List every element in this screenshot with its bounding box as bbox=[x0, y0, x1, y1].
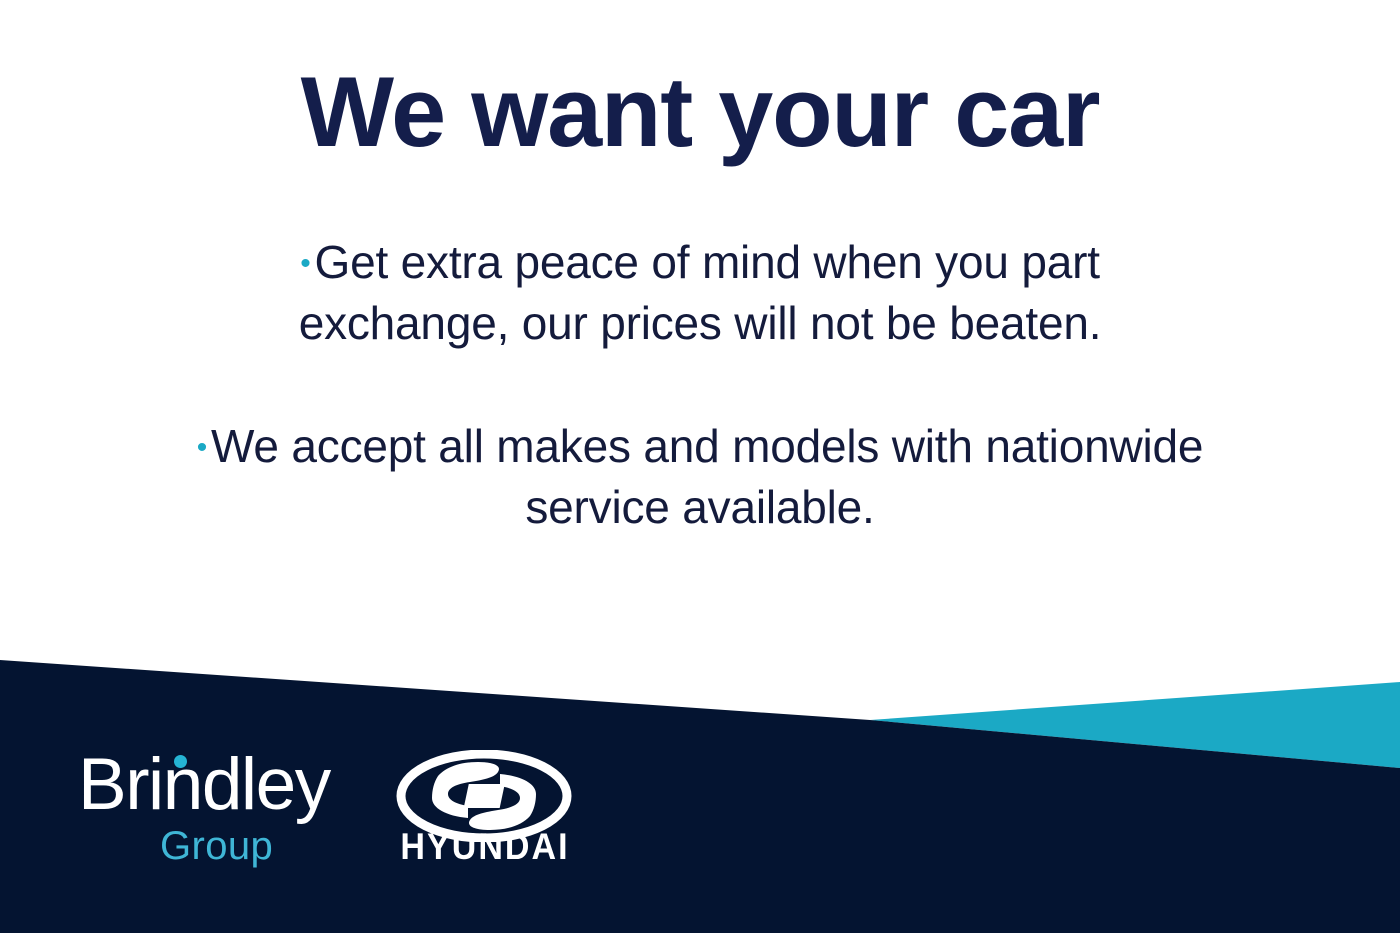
hyundai-logo: HYUNDAI bbox=[382, 748, 588, 878]
bullet-item-1: •Get extra peace of mind when you part e… bbox=[190, 232, 1210, 354]
brindley-wordmark: Brindley bbox=[78, 748, 330, 821]
bullet-dot-icon: • bbox=[300, 247, 314, 280]
hyundai-wordmark: HYUNDAI bbox=[390, 828, 580, 865]
bullet-item-2-text: We accept all makes and models with nati… bbox=[211, 420, 1203, 533]
brindley-dot-icon bbox=[174, 755, 187, 768]
advertisement-canvas: We want your car •Get extra peace of min… bbox=[0, 0, 1400, 933]
brindley-subtitle: Group bbox=[160, 826, 273, 866]
bullet-item-1-text: Get extra peace of mind when you part ex… bbox=[299, 236, 1102, 349]
bullet-dot-icon: • bbox=[197, 431, 211, 464]
page-title: We want your car bbox=[0, 62, 1400, 161]
logo-row: Brindley Group HYUNDAI bbox=[78, 748, 588, 888]
body-copy-block: •Get extra peace of mind when you part e… bbox=[190, 232, 1210, 538]
bullet-item-2: •We accept all makes and models with nat… bbox=[190, 416, 1210, 538]
brindley-group-logo: Brindley Group bbox=[78, 748, 340, 880]
